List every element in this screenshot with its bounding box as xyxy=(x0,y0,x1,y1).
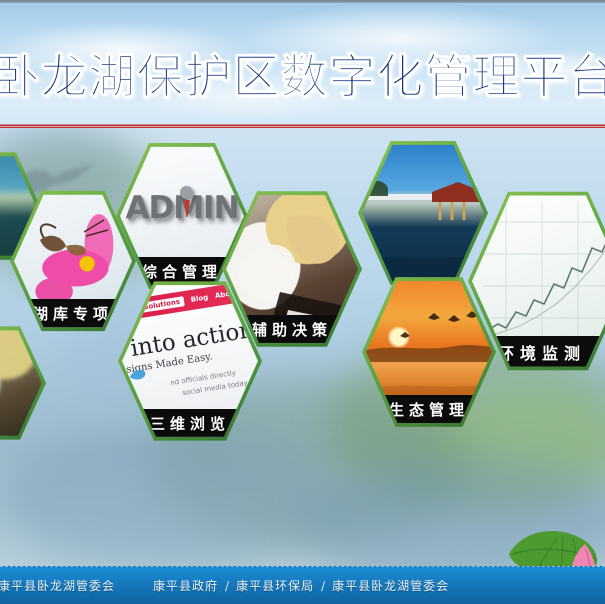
footer-bar: 康平县卧龙湖管委会 康平县政府 / 康平县环保局 / 康平县卧龙湖管委会 xyxy=(0,566,605,604)
footer-separator-1: / xyxy=(225,579,229,593)
hex-decor-bottomleft xyxy=(0,328,42,438)
window-top-edge xyxy=(0,0,605,3)
footer-link-government[interactable]: 康平县政府 xyxy=(153,577,218,594)
hex-scenic-lake[interactable] xyxy=(362,142,484,284)
page-title-container: 卧龙湖保护区数字化管理平台 xyxy=(0,43,605,111)
backdrop-blur-7 xyxy=(0,428,330,568)
footer-links: 康平县政府 / 康平县环保局 / 康平县卧龙湖管委会 xyxy=(153,577,449,594)
footer-owner: 康平县卧龙湖管委会 xyxy=(0,577,115,594)
footer-link-wolonghu-committee[interactable]: 康平县卧龙湖管委会 xyxy=(332,577,449,594)
scene-background: 湖库专项 ADMIN 综合管理 xyxy=(0,128,605,604)
footer-link-epa[interactable]: 康平县环保局 xyxy=(236,577,314,594)
footer-separator-2: / xyxy=(321,579,325,593)
page-title: 卧龙湖保护区数字化管理平台 xyxy=(0,54,605,101)
page-root: 卧龙湖保护区数字化管理平台 xyxy=(0,0,605,604)
